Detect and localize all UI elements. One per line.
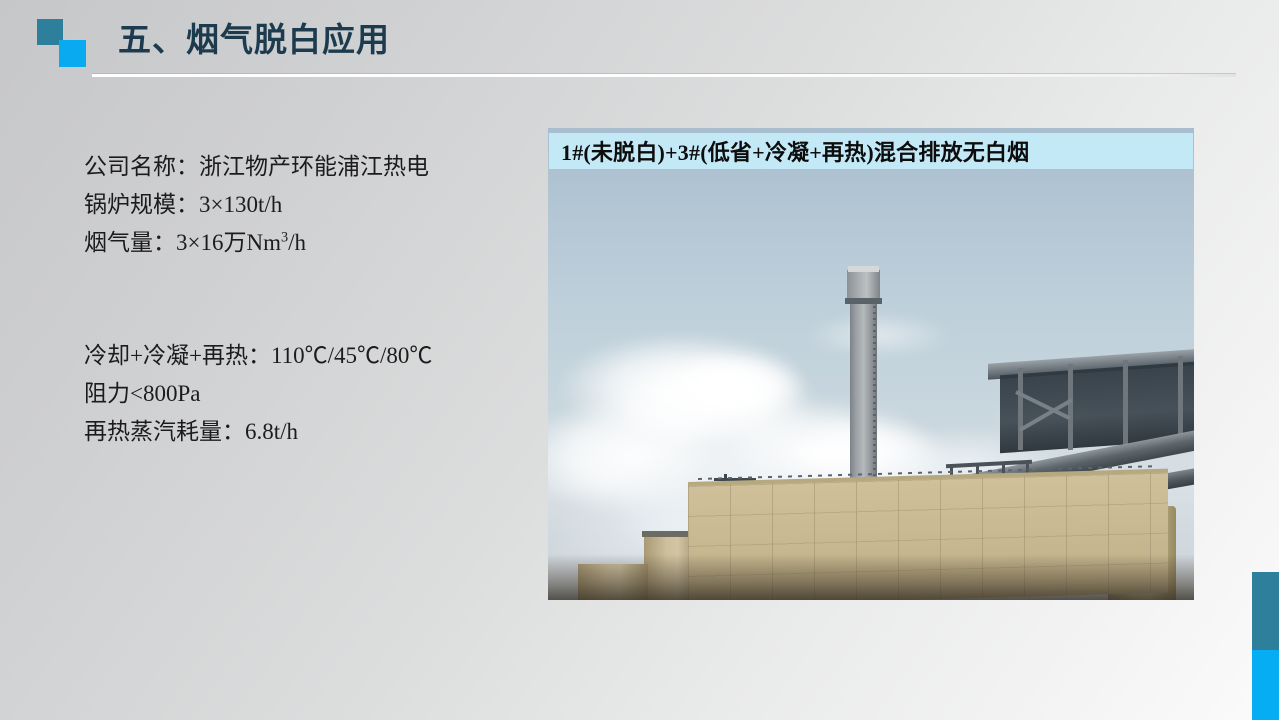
flue-gas-volume-prefix: 烟气量：3×16万Nm [84, 230, 281, 255]
corner-accent-bar [1252, 572, 1279, 720]
company-name-line: 公司名称：浙江物产环能浦江热电 [84, 148, 429, 186]
temperature-stages-line: 冷却+冷凝+再热：110℃/45℃/80℃ [84, 337, 432, 375]
title-divider [92, 74, 1236, 77]
hall-column-3 [1123, 360, 1128, 448]
cloud-wisp-top [803, 313, 953, 357]
boiler-scale-line: 锅炉规模：3×130t/h [84, 186, 429, 224]
plant-photo-frame [548, 128, 1194, 600]
parameters-block: 冷却+冷凝+再热：110℃/45℃/80℃ 阻力<800Pa 再热蒸汽耗量：6.… [84, 337, 432, 451]
corner-accent-top [1252, 572, 1279, 650]
hall-column-1 [1018, 368, 1023, 450]
photo-caption-banner: 1#(未脱白)+3#(低省+冷凝+再热)混合排放无白烟 [549, 133, 1193, 169]
flue-gas-volume-line: 烟气量：3×16万Nm3/h [84, 224, 429, 262]
chimney-cap-top [848, 266, 879, 272]
photo-caption-text: 1#(未脱白)+3#(低省+冷凝+再热)混合排放无白烟 [561, 135, 1029, 167]
reheat-steam-consumption-line: 再热蒸汽耗量：6.8t/h [84, 413, 432, 451]
chimney-cap-rim [845, 298, 882, 304]
slide-canvas: 五、烟气脱白应用 公司名称：浙江物产环能浦江热电 锅炉规模：3×130t/h 烟… [0, 0, 1279, 720]
corner-accent-bottom [1252, 650, 1279, 720]
page-title: 五、烟气脱白应用 [118, 18, 390, 62]
flue-gas-volume-suffix: /h [288, 230, 306, 255]
photo-bottom-shadow [548, 554, 1194, 600]
company-info-block: 公司名称：浙江物产环能浦江热电 锅炉规模：3×130t/h 烟气量：3×16万N… [84, 148, 429, 262]
title-decoration-square-bright [59, 40, 86, 67]
plant-photo [548, 128, 1194, 600]
pressure-drop-line: 阻力<800Pa [84, 375, 432, 413]
hall-column-2 [1068, 364, 1073, 450]
